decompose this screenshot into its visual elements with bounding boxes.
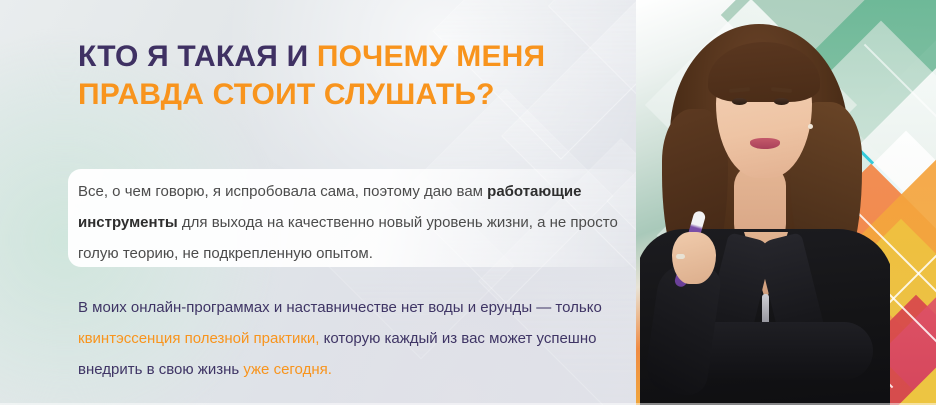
eye-left [732,98,747,105]
headline-line1-dark: КТО Я ТАКАЯ И [78,40,317,73]
headline-line1-accent: ПОЧЕМУ МЕНЯ [317,40,545,73]
portrait-photo [640,14,890,405]
paragraph2-part1: В моих онлайн-программах и наставничеств… [78,299,602,316]
paragraph-secondary: В моих онлайн-программах и наставничеств… [78,292,618,385]
paragraph-primary: Все, о чем говорю, я испробовала сама, п… [78,176,634,269]
promo-banner: КТО Я ТАКАЯ И ПОЧЕМУ МЕНЯ ПРАВДА СТОИТ С… [0,0,936,405]
paragraph2-accent2: уже сегодня. [243,361,332,378]
page-title: КТО Я ТАКАЯ И ПОЧЕМУ МЕНЯ ПРАВДА СТОИТ С… [78,38,638,114]
eye-right [774,98,789,105]
paragraph2-accent1: квинтэссенция полезной практики, [78,330,319,347]
paragraph1-part1: Все, о чем говорю, я испробовала сама, п… [78,183,487,200]
headline-line2-accent: ПРАВДА СТОИТ СЛУШАТЬ? [78,78,495,111]
lips [750,138,780,149]
earring-icon [808,124,813,129]
ring-icon [676,254,685,259]
